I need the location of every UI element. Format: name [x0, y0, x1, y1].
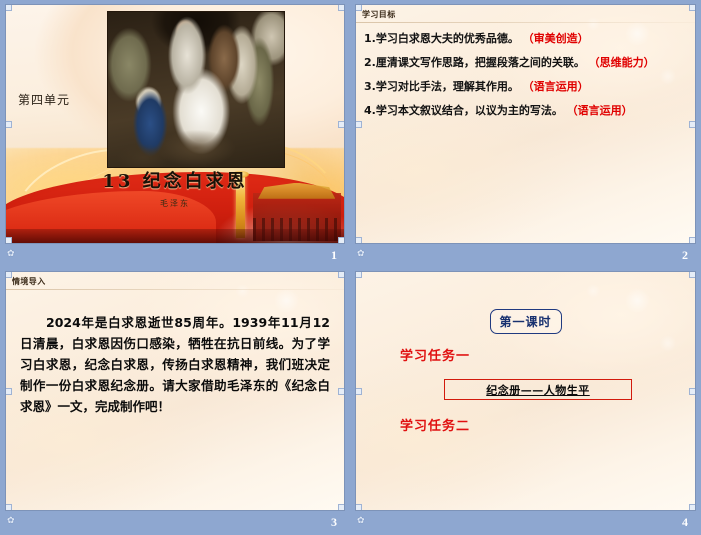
- slide-badge-icon[interactable]: ✿: [7, 515, 23, 529]
- slide-badge-icon[interactable]: ✿: [357, 248, 373, 262]
- slide-3-footer: ✿ 3: [5, 511, 345, 533]
- handle-bottom-right[interactable]: [338, 237, 345, 244]
- slide-number: 3: [331, 516, 337, 528]
- objective-text: 2.厘清课文写作思路，把握段落之间的关联。: [364, 56, 589, 69]
- handle-middle-left[interactable]: [5, 388, 12, 395]
- unit-label: 第四单元: [18, 91, 70, 108]
- slide-1[interactable]: 第四单元 13 纪念白求恩 毛泽东: [5, 4, 345, 244]
- handle-top-left[interactable]: [5, 4, 12, 11]
- objective-text: 1.学习白求恩大夫的优秀品德。: [364, 32, 523, 45]
- slide-cell-2[interactable]: 学习目标 1.学习白求恩大夫的优秀品德。 （审美创造） 2.厘清课文写作思路，把…: [350, 0, 701, 267]
- slide-cell-3[interactable]: 情境导入 2024年是白求恩逝世85周年。1939年11月12日清晨，白求恩因伤…: [0, 267, 350, 535]
- title-divider: [356, 22, 695, 23]
- handle-top-left[interactable]: [355, 4, 362, 11]
- slide-2[interactable]: 学习目标 1.学习白求恩大夫的优秀品德。 （审美创造） 2.厘清课文写作思路，把…: [355, 4, 696, 244]
- objective-tag: （思维能力）: [589, 56, 655, 69]
- objective-text: 4.学习本文叙议结合，以议为主的写法。: [364, 104, 567, 117]
- slide-number: 2: [682, 249, 688, 261]
- lesson-cover-image: [107, 11, 285, 168]
- task-two-label: 学习任务二: [400, 415, 470, 434]
- handle-top-right[interactable]: [689, 271, 696, 278]
- slide-deck-grid: 第四单元 13 纪念白求恩 毛泽东 ✿ 1 学习目标: [0, 0, 701, 535]
- slide-title: 情境导入: [12, 276, 46, 287]
- slide-2-footer: ✿ 2: [355, 244, 696, 266]
- lesson-author: 毛泽东: [6, 198, 344, 209]
- handle-bottom-left[interactable]: [5, 504, 12, 511]
- slide-3[interactable]: 情境导入 2024年是白求恩逝世85周年。1939年11月12日清晨，白求恩因伤…: [5, 271, 345, 511]
- handle-top-right[interactable]: [338, 4, 345, 11]
- objective-item: 4.学习本文叙议结合，以议为主的写法。 （语言运用）: [364, 103, 689, 118]
- handle-bottom-left[interactable]: [5, 237, 12, 244]
- handle-bottom-left[interactable]: [355, 237, 362, 244]
- handle-top-right[interactable]: [338, 271, 345, 278]
- objective-text: 3.学习对比手法，理解其作用。: [364, 80, 523, 93]
- objectives-list: 1.学习白求恩大夫的优秀品德。 （审美创造） 2.厘清课文写作思路，把握段落之间…: [364, 31, 689, 127]
- slide-cell-4[interactable]: 第一课时 学习任务一 纪念册——人物生平 学习任务二 ✿ 4: [350, 267, 701, 535]
- handle-middle-left[interactable]: [355, 121, 362, 128]
- handle-middle-right[interactable]: [689, 121, 696, 128]
- handle-bottom-right[interactable]: [338, 504, 345, 511]
- slide-title: 学习目标: [362, 9, 396, 20]
- task-one-box: 纪念册——人物生平: [444, 379, 632, 400]
- painting-surface: [108, 12, 284, 167]
- objective-item: 3.学习对比手法，理解其作用。 （语言运用）: [364, 79, 689, 94]
- handle-middle-left[interactable]: [5, 121, 12, 128]
- objective-item: 2.厘清课文写作思路，把握段落之间的关联。 （思维能力）: [364, 55, 689, 70]
- slide-1-footer: ✿ 1: [5, 244, 345, 266]
- lesson-period-badge: 第一课时: [489, 309, 561, 334]
- slide-number: 1: [331, 249, 337, 261]
- slide-badge-icon[interactable]: ✿: [7, 248, 23, 262]
- slide-number: 4: [682, 516, 688, 528]
- task-one-box-label: 纪念册——人物生平: [486, 382, 590, 398]
- handle-middle-right[interactable]: [338, 121, 345, 128]
- lesson-title: 13 纪念白求恩: [6, 167, 344, 193]
- objective-tag: （语言运用）: [523, 80, 589, 93]
- slide-cell-1[interactable]: 第四单元 13 纪念白求恩 毛泽东 ✿ 1: [0, 0, 350, 267]
- handle-bottom-left[interactable]: [355, 504, 362, 511]
- title-divider: [6, 289, 344, 290]
- slide-badge-icon[interactable]: ✿: [357, 515, 373, 529]
- handle-middle-right[interactable]: [689, 388, 696, 395]
- objective-tag: （语言运用）: [567, 104, 633, 117]
- objective-item: 1.学习白求恩大夫的优秀品德。 （审美创造）: [364, 31, 689, 46]
- handle-bottom-right[interactable]: [689, 504, 696, 511]
- handle-top-left[interactable]: [355, 271, 362, 278]
- bottom-shadow-band: [6, 229, 344, 243]
- handle-top-right[interactable]: [689, 4, 696, 11]
- handle-top-left[interactable]: [5, 271, 12, 278]
- slide-4[interactable]: 第一课时 学习任务一 纪念册——人物生平 学习任务二: [355, 271, 696, 511]
- objective-tag: （审美创造）: [523, 32, 589, 45]
- task-one-label: 学习任务一: [400, 345, 470, 364]
- handle-middle-right[interactable]: [338, 388, 345, 395]
- handle-middle-left[interactable]: [355, 388, 362, 395]
- handle-bottom-right[interactable]: [689, 237, 696, 244]
- intro-paragraph: 2024年是白求恩逝世85周年。1939年11月12日清晨，白求恩因伤口感染，牺…: [20, 312, 330, 417]
- slide-4-footer: ✿ 4: [355, 511, 696, 533]
